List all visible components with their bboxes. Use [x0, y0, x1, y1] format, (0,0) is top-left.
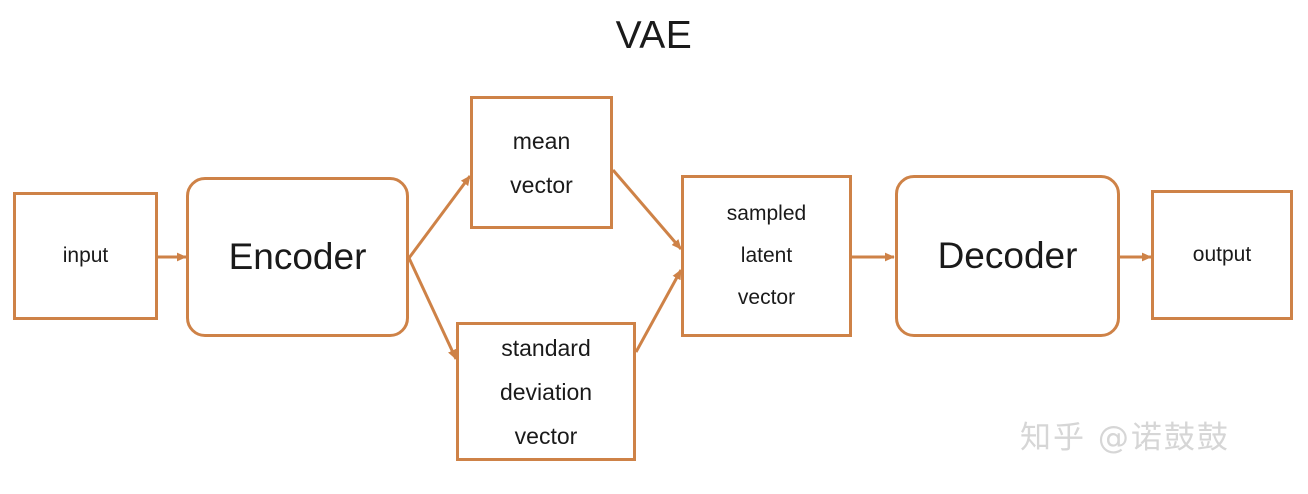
edge-std-vector-to-latent-vector: [636, 270, 681, 352]
node-decoder[interactable]: Decoder: [895, 175, 1120, 337]
node-output[interactable]: output: [1151, 190, 1293, 320]
node-mean-vector-label: mean vector: [510, 119, 573, 207]
node-output-label: output: [1193, 234, 1251, 276]
node-encoder-label: Encoder: [229, 235, 367, 279]
node-decoder-label: Decoder: [938, 234, 1078, 278]
page-title: VAE: [0, 14, 1308, 58]
node-standard-deviation-vector-label: standard deviation vector: [500, 326, 592, 458]
edge-mean-vector-to-latent-vector: [613, 170, 681, 249]
node-sampled-latent-vector[interactable]: sampled latent vector: [681, 175, 852, 337]
node-input-label: input: [63, 235, 109, 277]
node-sampled-latent-vector-label: sampled latent vector: [727, 193, 806, 319]
node-mean-vector[interactable]: mean vector: [470, 96, 613, 229]
edge-encoder-to-mean-vector: [409, 176, 470, 258]
diagram-canvas: VAE input Encoder mean vector standard d…: [0, 0, 1308, 494]
edge-encoder-to-std-vector: [409, 258, 456, 359]
watermark: 知乎 @诺鼓鼓: [1020, 412, 1230, 457]
node-input[interactable]: input: [13, 192, 158, 320]
node-standard-deviation-vector[interactable]: standard deviation vector: [456, 322, 636, 461]
node-encoder[interactable]: Encoder: [186, 177, 409, 337]
